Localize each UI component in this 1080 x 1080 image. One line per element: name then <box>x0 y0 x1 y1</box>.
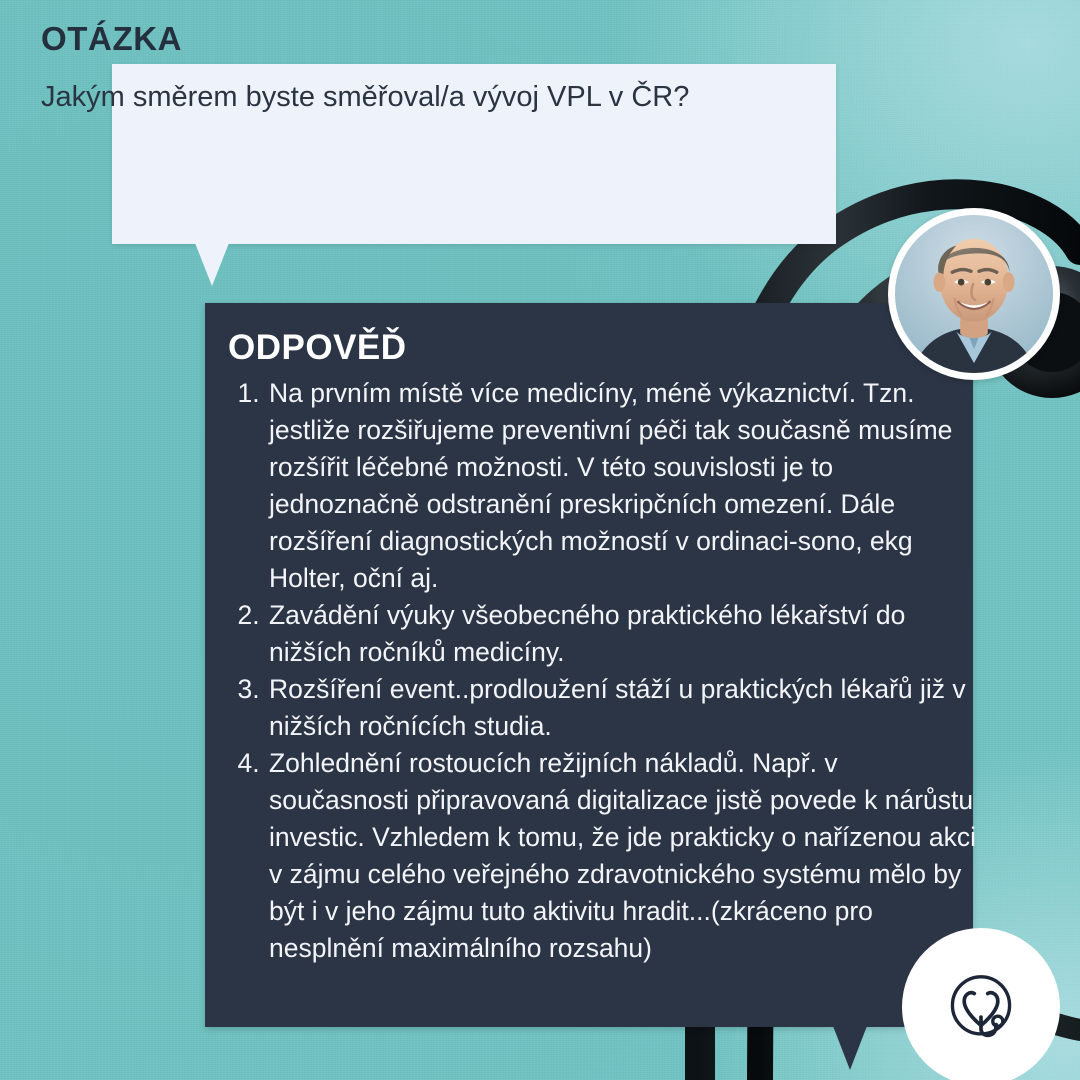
brand-logo <box>902 928 1060 1080</box>
question-title: OTÁZKA <box>41 20 182 58</box>
heart-stethoscope-icon <box>939 965 1023 1049</box>
answer-title: ODPOVĚĎ <box>228 328 407 368</box>
question-card-tail <box>195 243 229 286</box>
answer-card: ODPOVĚĎ Na prvním místě více medicíny, m… <box>205 303 973 1027</box>
avatar <box>888 208 1060 380</box>
answer-list-item: Na prvním místě více medicíny, méně výka… <box>267 375 979 597</box>
answer-card-tail <box>833 1026 867 1070</box>
answer-list-item: Zohlednění rostoucích režijních nákladů.… <box>267 745 979 967</box>
person-photo-icon <box>895 215 1053 373</box>
avatar-photo <box>895 215 1053 373</box>
poster-canvas: OTÁZKA Jakým směrem byste směřoval/a výv… <box>0 0 1080 1080</box>
answer-list: Na prvním místě více medicíny, méně výka… <box>243 375 979 967</box>
answer-list-item: Rozšíření event..prodloužení stáží u pra… <box>267 671 979 745</box>
answer-list-item: Zavádění výuky všeobecného praktického l… <box>267 597 979 671</box>
question-text: Jakým směrem byste směřoval/a vývoj VPL … <box>41 78 701 117</box>
